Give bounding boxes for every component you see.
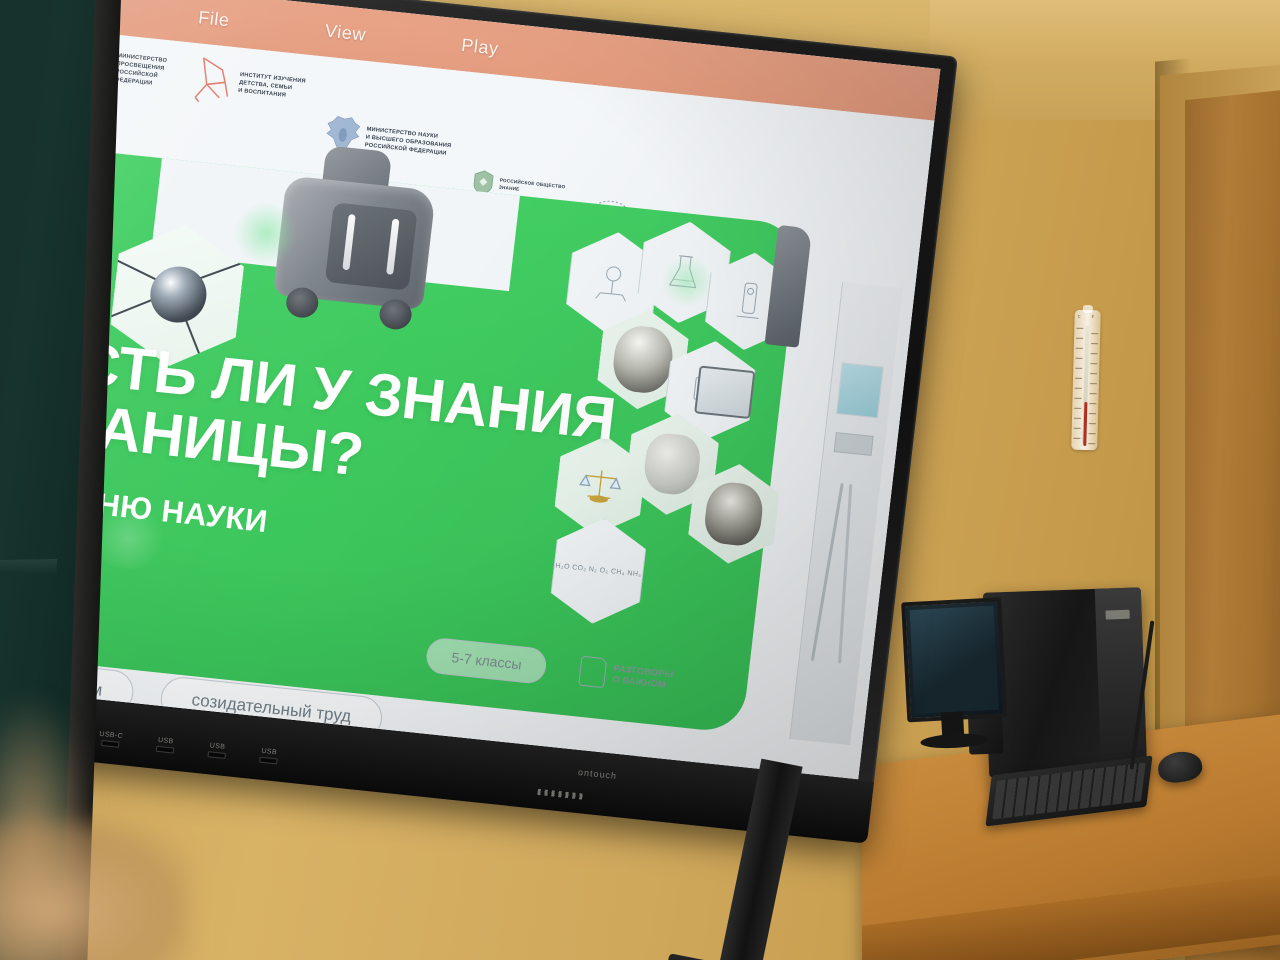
rover-panel: [325, 202, 418, 290]
pc-brand-badge: [1106, 610, 1130, 620]
ministry-of-education-label: МИНИСТЕРСТВО ПРОСВЕЩЕНИЯ РОССИЙСКОЙ ФЕДЕ…: [114, 52, 167, 89]
monitor-base: [920, 732, 989, 750]
equipment-cable-2: [838, 484, 852, 664]
port-usb-3-hole: [259, 757, 278, 765]
delivery-rover-icon: [261, 135, 458, 348]
equipment-monitor: [694, 365, 755, 419]
equipment-controls: [834, 432, 874, 456]
program-badge-label: РАЗГОВОРЫ О ВАЖНОМ: [612, 663, 674, 692]
thermometer-ticks: [1073, 328, 1098, 447]
slide-body: МИНИСТЕРСТВО ПРОСВЕЩЕНИЯ РОССИЙСКОЙ ФЕДЕ…: [0, 25, 934, 779]
port-usb-2[interactable]: USB: [207, 742, 227, 759]
port-usb-3-label: USB: [261, 748, 277, 757]
port-usb-2-label: USB: [209, 742, 225, 751]
mendeleev-face: [610, 324, 675, 396]
institute-of-childhood-logo: ИНСТИТУТ ИЗУЧЕНИЯ ДЕТСТВА, СЕМЬИ И ВОСПИ…: [188, 53, 307, 115]
port-usb-1[interactable]: USB: [155, 737, 175, 754]
chalk-rail: [0, 559, 57, 575]
menu-view[interactable]: View: [324, 20, 367, 45]
scientist-face: [702, 480, 765, 547]
equipment-display: [836, 362, 884, 418]
wall-thermometer: C F: [1071, 310, 1101, 451]
port-usb-3[interactable]: USB: [259, 748, 279, 765]
institute-of-childhood-label: ИНСТИТУТ ИЗУЧЕНИЯ ДЕТСТВА, СЕМЬИ И ВОСПИ…: [238, 71, 307, 102]
port-usb-c-hole: [101, 740, 120, 748]
pc-tower[interactable]: [983, 587, 1147, 777]
thermometer-cap: [1083, 305, 1093, 313]
port-usb-c[interactable]: USB-C: [98, 731, 123, 748]
thermometer-scale-c: C: [1078, 314, 1082, 319]
presentation-slide: File View Play: [0, 0, 940, 779]
monitor-image: [910, 606, 999, 714]
monitor[interactable]: [901, 598, 1001, 753]
ceiling-edge: [930, 0, 1280, 70]
monitor-screen: [901, 597, 1007, 722]
port-usb-1-label: USB: [158, 737, 174, 746]
room-photo: C F File: [0, 0, 1280, 960]
chair-outline-icon: [188, 53, 236, 107]
display-screen[interactable]: File View Play: [0, 0, 940, 779]
menu-play[interactable]: Play: [460, 34, 500, 59]
sputnik-sphere: [147, 264, 209, 325]
port-usb-2-hole: [207, 751, 226, 759]
speech-bubble-icon: [579, 656, 608, 689]
port-usb-1-hole: [155, 746, 174, 754]
interactive-display[interactable]: File View Play: [0, 0, 973, 960]
foreground-blur-1: [0, 820, 190, 960]
thermometer-scale-f: F: [1092, 314, 1095, 319]
display-bezel: File View Play: [0, 0, 958, 842]
program-badge: РАЗГОВОРЫ О ВАЖНОМ: [579, 656, 675, 696]
port-usb-c-label: USB-C: [99, 731, 123, 740]
menu-file[interactable]: File: [197, 7, 231, 31]
